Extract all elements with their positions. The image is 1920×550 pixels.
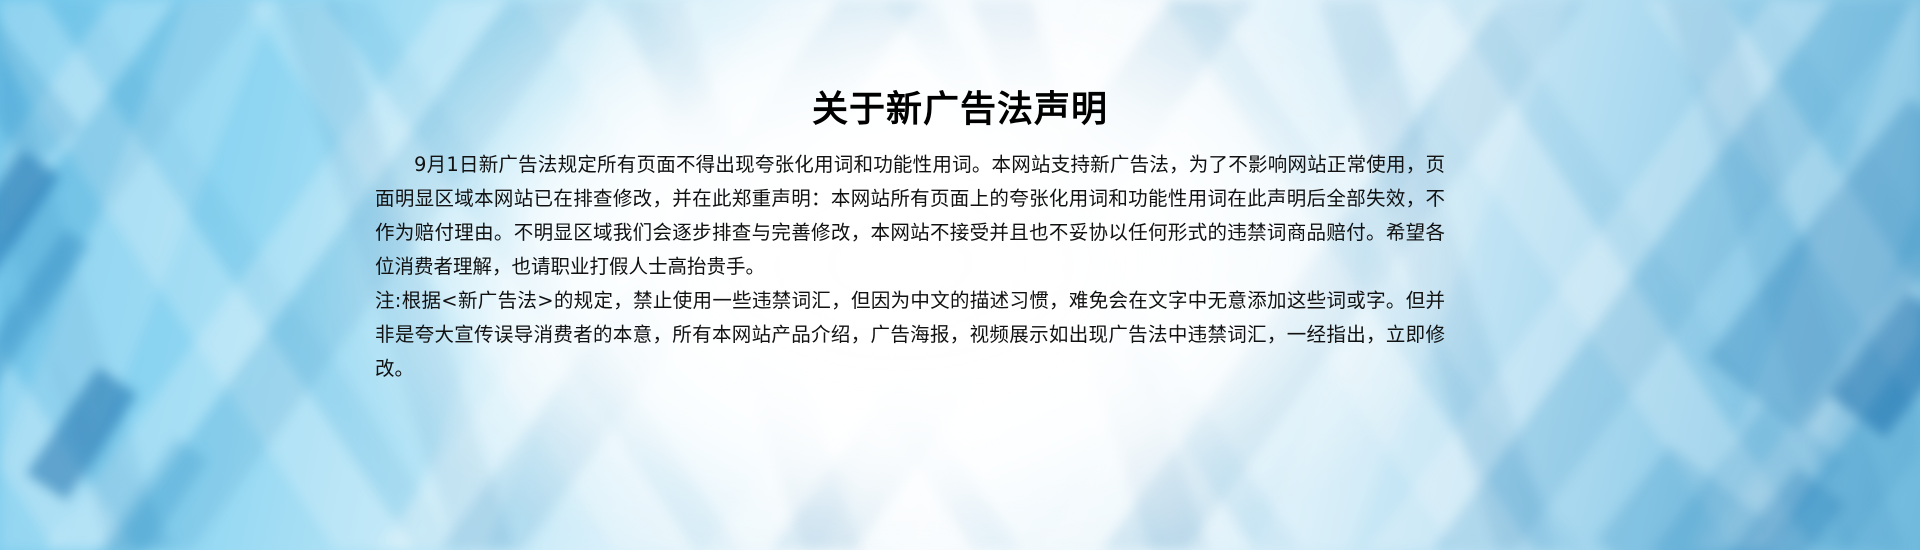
notice-paragraph-1: 9月1日新广告法规定所有页面不得出现夸张化用词和功能性用词。本网站支持新广告法，… <box>375 148 1445 284</box>
notice-content: 关于新广告法声明 9月1日新广告法规定所有页面不得出现夸张化用词和功能性用词。本… <box>0 0 1920 550</box>
notice-body: 9月1日新广告法规定所有页面不得出现夸张化用词和功能性用词。本网站支持新广告法，… <box>375 148 1445 386</box>
page-title: 关于新广告法声明 <box>0 88 1920 132</box>
advertising-law-notice-banner: 关于新广告法声明 9月1日新广告法规定所有页面不得出现夸张化用词和功能性用词。本… <box>0 0 1920 550</box>
notice-paragraph-2: 注:根据<新广告法>的规定，禁止使用一些违禁词汇，但因为中文的描述习惯，难免会在… <box>375 284 1445 386</box>
